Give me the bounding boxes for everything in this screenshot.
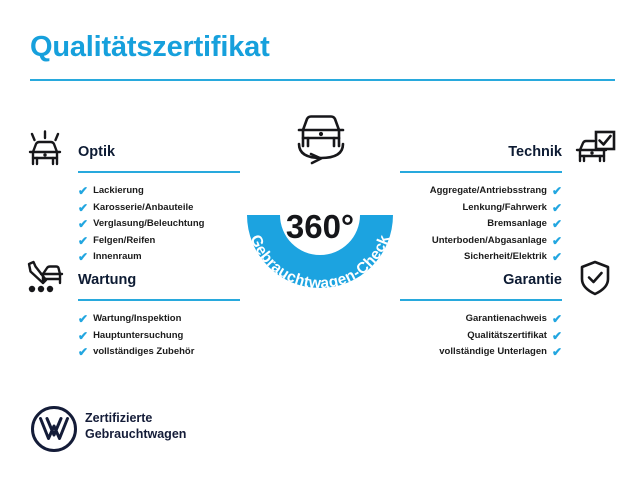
check-icon: ✔ [552,202,562,214]
section-wartung: Wartung ✔Wartung/Inspektion ✔Hauptunters… [22,258,240,361]
vw-wordmark-line2: Gebrauchtwagen [85,426,186,442]
list-item: ✔Hauptuntersuchung [22,328,240,345]
badge-number: 360° [225,208,415,246]
section-divider-wartung [78,299,240,301]
list-item: Qualitätszertifikat✔ [400,328,618,345]
vw-wordmark-line1: Zertifizierte [85,410,186,426]
checklist-optik: ✔Lackierung ✔Karosserie/Anbauteile ✔Verg… [22,183,240,266]
check-icon: ✔ [78,218,88,230]
list-item-label: Hauptuntersuchung [93,328,183,345]
list-item: vollständige Unterlagen✔ [400,344,618,361]
list-item: ✔Lackierung [22,183,240,200]
badge-360-check: Gebrauchtwagen-Check 360° [225,108,415,304]
check-icon: ✔ [552,330,562,342]
list-item-label: Verglasung/Beleuchtung [93,216,204,233]
section-divider-technik [400,171,562,173]
list-item: ✔Verglasung/Beleuchtung [22,216,240,233]
list-item: Unterboden/Abgasanlage✔ [400,233,618,250]
check-icon: ✔ [78,202,88,214]
section-title-garantie: Garantie [503,272,562,288]
list-item: ✔Felgen/Reifen [22,233,240,250]
check-icon: ✔ [552,235,562,247]
section-garantie: Garantie Garantienachweis✔ Qualitätszert… [400,258,618,361]
section-header-technik: Technik [400,130,618,172]
section-title-wartung: Wartung [78,272,136,288]
list-item-label: vollständige Unterlagen [439,344,547,361]
checklist-garantie: Garantienachweis✔ Qualitätszertifikat✔ v… [400,311,618,361]
car-shine-icon [22,130,68,172]
list-item: ✔Wartung/Inspektion [22,311,240,328]
section-title-optik: Optik [78,144,115,160]
certificate-page: Qualitätszertifikat [0,0,640,480]
check-icon: ✔ [552,313,562,325]
section-header-garantie: Garantie [400,258,618,300]
list-item-label: Wartung/Inspektion [93,311,181,328]
page-title: Qualitätszertifikat [30,31,270,64]
car-checkbox-icon [572,130,618,172]
section-title-technik: Technik [508,144,562,160]
checklist-technik: Aggregate/Antriebsstrang✔ Lenkung/Fahrwe… [400,183,618,266]
list-item-label: Karosserie/Anbauteile [93,200,193,217]
list-item-label: vollständiges Zubehör [93,344,194,361]
title-divider [30,79,615,81]
check-icon: ✔ [78,185,88,197]
check-icon: ✔ [78,313,88,325]
list-item: ✔Karosserie/Anbauteile [22,200,240,217]
wrench-car-icon [22,258,68,300]
check-icon: ✔ [552,185,562,197]
list-item: ✔vollständiges Zubehör [22,344,240,361]
section-divider-garantie [400,299,562,301]
list-item: Aggregate/Antriebsstrang✔ [400,183,618,200]
check-icon: ✔ [552,218,562,230]
vw-brand-lockup: Zertifizierte Gebrauchtwagen [30,405,260,455]
list-item-label: Garantienachweis [466,311,547,328]
section-header-wartung: Wartung [22,258,240,300]
shield-check-icon [572,258,618,300]
list-item-label: Lackierung [93,183,144,200]
list-item-label: Aggregate/Antriebsstrang [430,183,547,200]
check-icon: ✔ [78,330,88,342]
list-item: Garantienachweis✔ [400,311,618,328]
list-item-label: Qualitätszertifikat [467,328,547,345]
list-item-label: Felgen/Reifen [93,233,155,250]
section-optik: Optik ✔Lackierung ✔Karosserie/Anbauteile… [22,130,240,266]
list-item-label: Unterboden/Abgasanlage [432,233,547,250]
check-icon: ✔ [78,235,88,247]
vw-logo [30,405,78,458]
list-item-label: Bremsanlage [487,216,547,233]
vw-wordmark: Zertifizierte Gebrauchtwagen [85,410,186,442]
list-item: Bremsanlage✔ [400,216,618,233]
section-technik: Technik Aggregate/Antriebsstrang✔ Lenkun… [400,130,618,266]
check-icon: ✔ [552,346,562,358]
list-item-label: Lenkung/Fahrwerk [462,200,546,217]
check-icon: ✔ [78,346,88,358]
section-header-optik: Optik [22,130,240,172]
list-item: Lenkung/Fahrwerk✔ [400,200,618,217]
section-divider-optik [78,171,240,173]
checklist-wartung: ✔Wartung/Inspektion ✔Hauptuntersuchung ✔… [22,311,240,361]
